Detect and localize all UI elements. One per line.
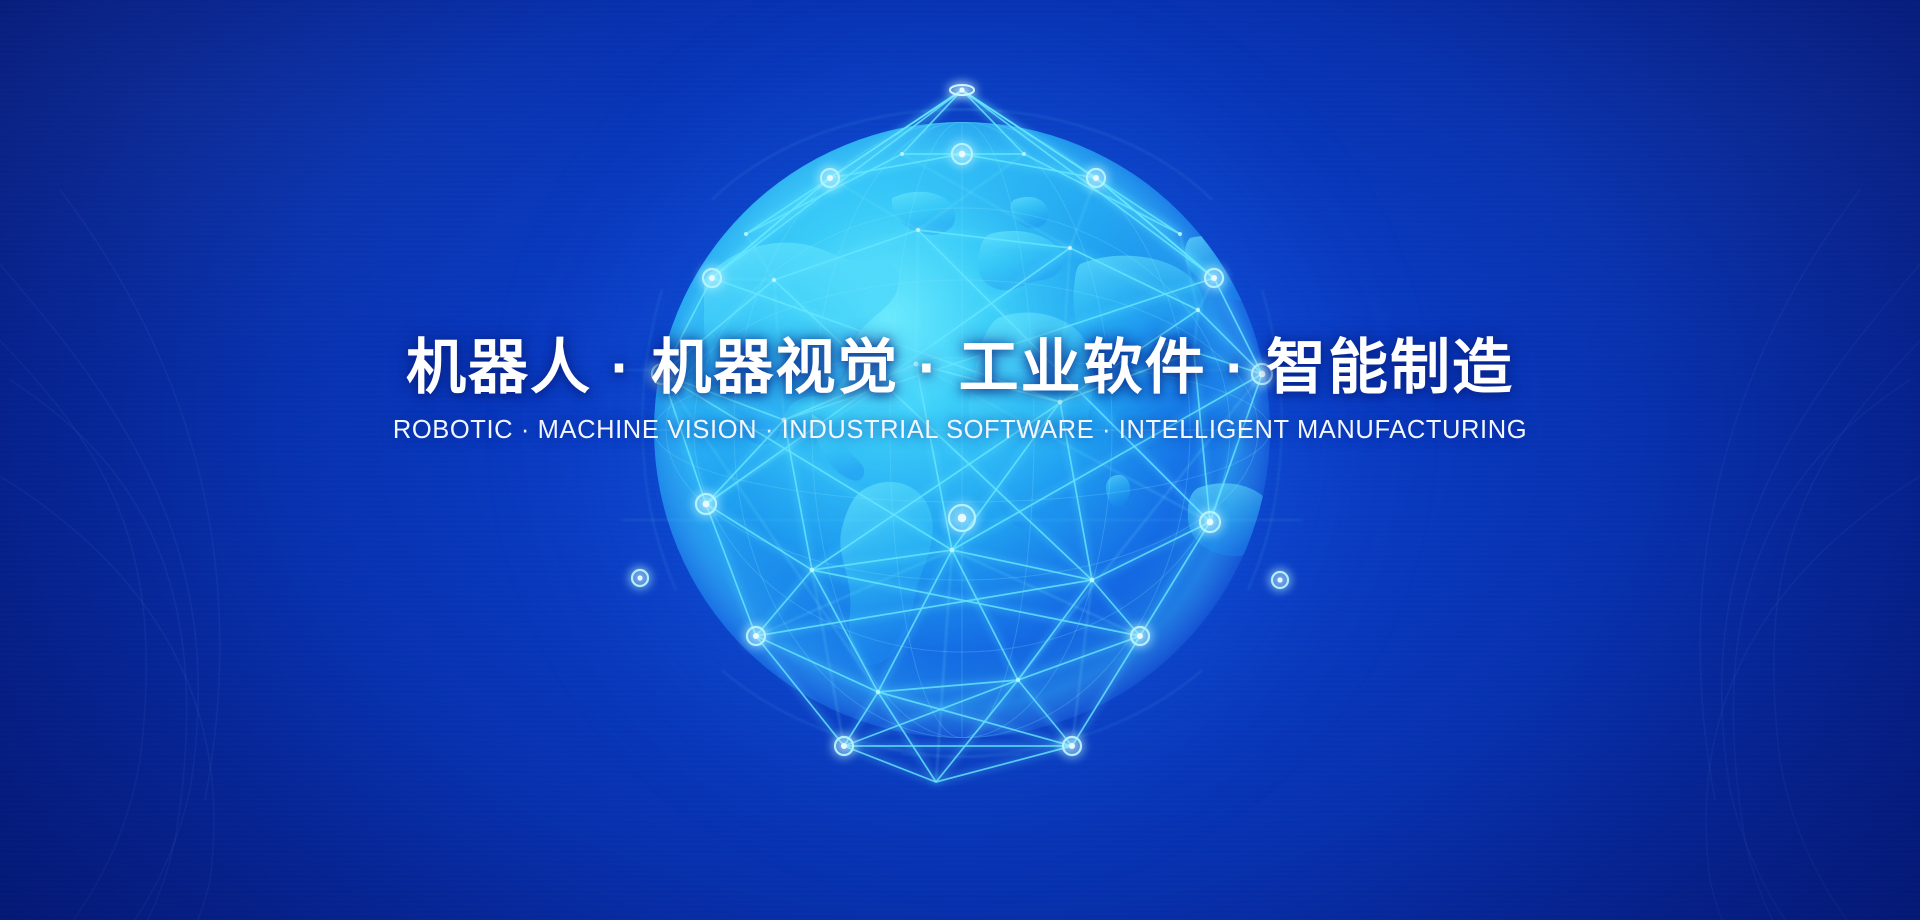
globe-apex-node <box>950 85 974 95</box>
hero-banner: 机器人 · 机器视觉 · 工业软件 · 智能制造 ROBOTIC · MACHI… <box>0 0 1920 920</box>
globe-wireframe-svg <box>542 10 1382 850</box>
